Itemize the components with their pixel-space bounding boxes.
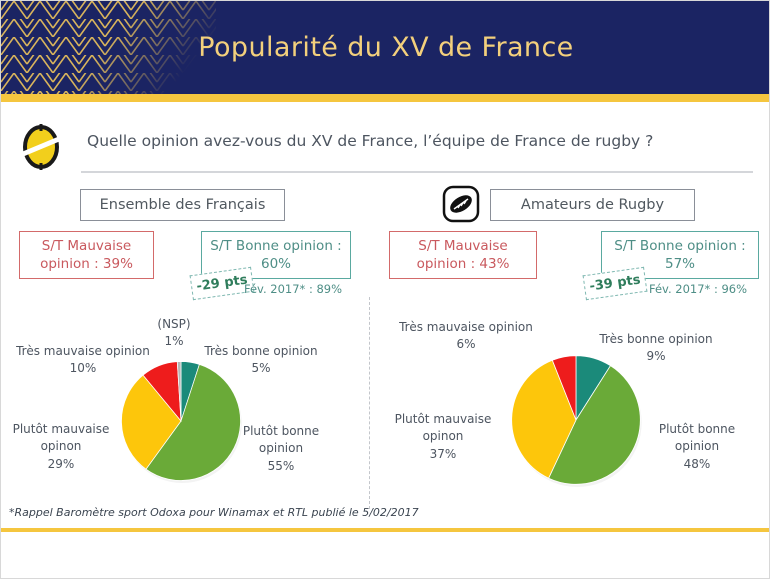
panel-title-ensemble[interactable]: Ensemble des Français xyxy=(80,189,285,221)
previous-value-amateurs: Fév. 2017* : 96% xyxy=(649,282,747,296)
pie-label-tm-value: 6% xyxy=(386,336,546,353)
pie-label-pm-value: 37% xyxy=(383,446,503,463)
panel-divider xyxy=(369,297,370,509)
delta-badge-amateurs: -39 pts xyxy=(583,267,648,300)
odoxa-logo-icon xyxy=(19,124,63,170)
page-title: Popularité du XV de France xyxy=(1,1,770,94)
panel-title-amateurs[interactable]: Amateurs de Rugby xyxy=(490,189,695,221)
pie-label-pm-value: 29% xyxy=(3,456,119,473)
previous-value-ensemble: Fév. 2017* : 89% xyxy=(244,282,342,296)
pie-label-nsp-name: (NSP) xyxy=(157,317,190,331)
pie-label-tres-bonne-amateurs: Très bonne opinion 9% xyxy=(589,331,723,366)
pie-label-tres-mauvaise-amateurs: Très mauvaise opinion 6% xyxy=(386,319,546,354)
pie-label-tres-bonne-ensemble: Très bonne opinion 5% xyxy=(197,343,325,378)
question-divider xyxy=(81,171,753,173)
pie-label-tb-value: 5% xyxy=(197,360,325,377)
pie-label-pm-name: Plutôt mauvaise opinon xyxy=(395,412,492,443)
subtotal-bad-amateurs: S/T Mauvaise opinion : 43% xyxy=(389,231,537,279)
pie-label-tb-value: 9% xyxy=(589,348,723,365)
pie-label-tm-name: Très mauvaise opinion xyxy=(399,320,533,334)
footnote: *Rappel Baromètre sport Odoxa pour Winam… xyxy=(9,506,419,519)
pie-label-tm-name: Très mauvaise opinion xyxy=(16,344,150,358)
pie-label-plutot-mauvaise-amateurs: Plutôt mauvaise opinon 37% xyxy=(383,411,503,463)
subtotal-bad-ensemble: S/T Mauvaise opinion : 39% xyxy=(19,231,154,279)
header-accent-bar xyxy=(1,94,770,102)
pie-chart-amateurs xyxy=(509,353,643,487)
pie-label-pm-name: Plutôt mauvaise opinon xyxy=(13,422,110,453)
pie-label-plutot-bonne-ensemble: Plutôt bonne opinion 55% xyxy=(232,423,330,475)
pie-label-pb-value: 48% xyxy=(647,456,747,473)
pie-label-tres-mauvaise-ensemble: Très mauvaise opinion 10% xyxy=(9,343,157,378)
pie-label-tb-name: Très bonne opinion xyxy=(204,344,317,358)
pie-label-pb-name: Plutôt bonne opinion xyxy=(243,424,319,455)
pie-label-plutot-mauvaise-ensemble: Plutôt mauvaise opinon 29% xyxy=(3,421,119,473)
slide-root: Popularité du XV de France Quelle opinio… xyxy=(0,0,770,579)
pie-label-tm-value: 10% xyxy=(9,360,157,377)
pie-label-pb-name: Plutôt bonne opinion xyxy=(659,422,735,453)
pie-label-plutot-bonne-amateurs: Plutôt bonne opinion 48% xyxy=(647,421,747,473)
survey-question: Quelle opinion avez-vous du XV de France… xyxy=(87,132,747,150)
footer-bar: OD XA L'Opinion tranchée RTL xyxy=(1,532,770,579)
pie-label-pb-value: 55% xyxy=(232,458,330,475)
pie-label-tb-name: Très bonne opinion xyxy=(599,332,712,346)
rugby-ball-icon xyxy=(442,185,480,223)
header-banner: Popularité du XV de France xyxy=(1,1,770,94)
